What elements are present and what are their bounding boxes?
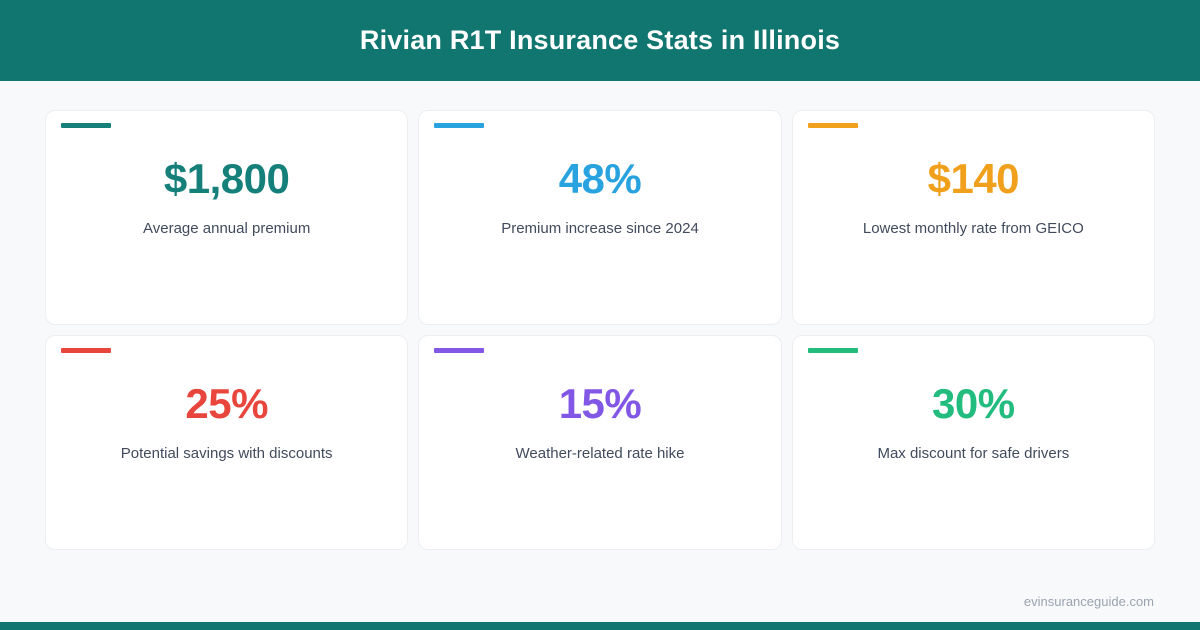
stat-value: $140	[928, 158, 1019, 200]
stats-grid-wrapper: $1,800 Average annual premium 48% Premiu…	[0, 81, 1200, 581]
header-bar: Rivian R1T Insurance Stats in Illinois	[0, 0, 1200, 81]
stat-card: 30% Max discount for safe drivers	[792, 335, 1155, 550]
stat-label: Weather-related rate hike	[516, 445, 685, 463]
bottom-accent-bar	[0, 622, 1200, 630]
accent-bar	[434, 348, 484, 353]
page-title: Rivian R1T Insurance Stats in Illinois	[360, 27, 840, 54]
stat-value: 15%	[559, 383, 642, 425]
stat-card: $140 Lowest monthly rate from GEICO	[792, 110, 1155, 325]
site-watermark: evinsuranceguide.com	[1024, 595, 1154, 608]
footer: evinsuranceguide.com	[0, 581, 1200, 622]
stat-label: Premium increase since 2024	[501, 220, 699, 238]
accent-bar	[61, 123, 111, 128]
stat-label: Lowest monthly rate from GEICO	[863, 220, 1084, 238]
stat-value: 30%	[932, 383, 1015, 425]
infographic-page: Rivian R1T Insurance Stats in Illinois $…	[0, 0, 1200, 630]
accent-bar	[434, 123, 484, 128]
stat-value: 25%	[185, 383, 268, 425]
stat-label: Max discount for safe drivers	[877, 445, 1069, 463]
accent-bar	[61, 348, 111, 353]
stat-card: 15% Weather-related rate hike	[418, 335, 781, 550]
stat-value: 48%	[559, 158, 642, 200]
stat-label: Potential savings with discounts	[121, 445, 333, 463]
stat-card: $1,800 Average annual premium	[45, 110, 408, 325]
accent-bar	[808, 348, 858, 353]
stats-grid: $1,800 Average annual premium 48% Premiu…	[45, 110, 1155, 550]
stat-card: 48% Premium increase since 2024	[418, 110, 781, 325]
stat-value: $1,800	[164, 158, 289, 200]
stat-label: Average annual premium	[143, 220, 310, 238]
stat-card: 25% Potential savings with discounts	[45, 335, 408, 550]
accent-bar	[808, 123, 858, 128]
